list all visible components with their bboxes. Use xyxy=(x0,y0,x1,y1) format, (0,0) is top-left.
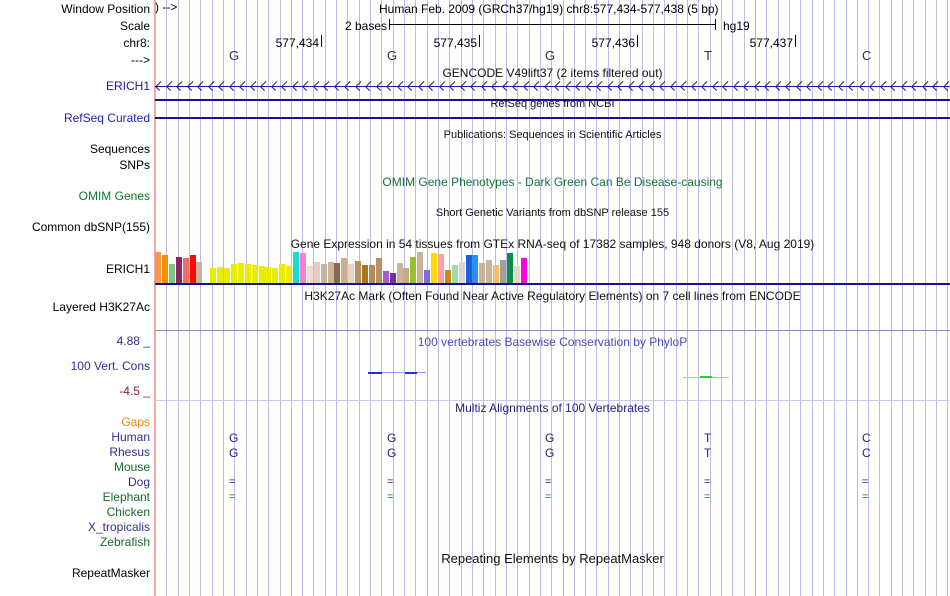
multiz-base-dog: = xyxy=(387,476,393,488)
strand-chevron-left-icon xyxy=(817,81,827,91)
cons-axis-min-tick: _ xyxy=(143,384,150,398)
strand-chevron-left-icon xyxy=(764,81,774,91)
gtex-bar[interactable] xyxy=(210,268,216,283)
gtex-bar[interactable] xyxy=(231,264,237,283)
coord-label-1: 577,435 xyxy=(369,36,477,50)
strand-chevron-left-icon xyxy=(428,81,438,91)
strand-chevron-left-icon xyxy=(292,81,302,91)
gtex-bar[interactable] xyxy=(252,265,258,283)
title-repeatmasker: Repeating Elements by RepeatMasker xyxy=(155,551,950,566)
refseq-gene-line xyxy=(155,117,950,119)
multiz-base-elephant: = xyxy=(704,491,710,503)
title-gtex: Gene Expression in 54 tissues from GTEx … xyxy=(155,237,950,251)
track-label-column: Window Position Scale chr8: ---> ERICH1 … xyxy=(0,0,153,596)
strand-chevron-left-icon xyxy=(218,81,228,91)
gtex-bar[interactable] xyxy=(369,265,375,283)
gtex-bar[interactable] xyxy=(314,262,320,283)
strand-chevron-left-icon xyxy=(533,81,543,91)
strand-chevron-left-icon xyxy=(229,81,239,91)
label-species-gaps[interactable]: Gaps xyxy=(121,416,150,428)
gtex-bar[interactable] xyxy=(328,262,334,283)
ruler-base-0: G xyxy=(229,48,239,63)
gtex-bar[interactable] xyxy=(169,264,175,283)
strand-chevron-left-icon xyxy=(701,81,711,91)
label-scale: Scale xyxy=(120,20,150,32)
strand-chevron-left-icon xyxy=(649,81,659,91)
label-species-human[interactable]: Human xyxy=(111,431,150,443)
gtex-bar[interactable] xyxy=(417,252,423,283)
strand-chevron-left-icon xyxy=(544,81,554,91)
label-species-chicken[interactable]: Chicken xyxy=(107,506,150,518)
gtex-bar[interactable] xyxy=(472,255,478,283)
gtex-bar[interactable] xyxy=(183,258,189,283)
gtex-bar[interactable] xyxy=(507,253,513,283)
cons-axis-max-value: 4.88 xyxy=(117,334,140,348)
coord-tick-3 xyxy=(795,35,796,47)
gtex-bar[interactable] xyxy=(259,266,265,283)
strand-chevron-left-icon xyxy=(502,81,512,91)
label-track-sequences[interactable]: Sequences xyxy=(90,143,150,155)
gtex-bar[interactable] xyxy=(431,253,437,283)
multiz-base-rhesus: G xyxy=(545,446,554,460)
gtex-bar[interactable] xyxy=(376,258,382,283)
gtex-bar[interactable] xyxy=(521,258,527,283)
label-track-100-vert-cons[interactable]: 100 Vert. Cons xyxy=(71,360,150,372)
gtex-bar[interactable] xyxy=(410,257,416,283)
multiz-base-elephant: = xyxy=(229,491,235,503)
strand-chevron-left-icon xyxy=(449,81,459,91)
strand-chevron-left-icon xyxy=(460,81,470,91)
gtex-bar[interactable] xyxy=(238,263,244,283)
strand-chevron-left-icon xyxy=(922,81,932,91)
title-refseq: RefSeq genes from NCBI xyxy=(155,98,950,110)
strand-chevron-left-icon xyxy=(355,81,365,91)
gtex-bar[interactable] xyxy=(293,252,299,283)
gtex-bar[interactable] xyxy=(397,263,403,283)
strand-chevron-left-icon xyxy=(722,81,732,91)
multiz-base-dog: = xyxy=(862,476,868,488)
cons-axis-min: -4.5 _ xyxy=(119,385,150,397)
strand-chevron-left-icon xyxy=(880,81,890,91)
title-multiz: Multiz Alignments of 100 Vertebrates xyxy=(155,401,950,415)
label-chrom: chr8: xyxy=(123,37,150,49)
multiz-base-dog: = xyxy=(229,476,235,488)
strand-chevron-left-icon xyxy=(512,81,522,91)
gtex-bar[interactable] xyxy=(348,264,354,283)
strand-chevron-left-icon xyxy=(554,81,564,91)
ruler-base-4: C xyxy=(862,48,871,63)
label-track-erich1-gtex[interactable]: ERICH1 xyxy=(106,263,150,275)
label-species-elephant[interactable]: Elephant xyxy=(103,491,150,503)
coord-tick-1 xyxy=(479,35,480,47)
gtex-bar[interactable] xyxy=(196,262,202,283)
label-window-position: Window Position xyxy=(61,3,150,15)
strand-chevron-left-icon xyxy=(596,81,606,91)
strand-chevron-left-icon xyxy=(712,81,722,91)
strand-chevron-left-icon xyxy=(176,81,186,91)
gtex-bar[interactable] xyxy=(279,264,285,283)
ruler-base-1: G xyxy=(387,48,397,63)
gtex-bar[interactable] xyxy=(265,267,271,283)
gtex-bar[interactable] xyxy=(341,258,347,283)
strand-chevron-left-icon xyxy=(659,81,669,91)
strand-chevron-left-icon xyxy=(187,81,197,91)
strand-chevron-left-icon xyxy=(523,81,533,91)
label-strand-arrow: ---> xyxy=(131,54,150,66)
multiz-base-rhesus: G xyxy=(387,446,396,460)
label-species-mouse[interactable]: Mouse xyxy=(114,461,150,473)
strand-chevron-left-icon xyxy=(607,81,617,91)
label-species-dog[interactable]: Dog xyxy=(128,476,150,488)
strand-chevron-left-icon xyxy=(890,81,900,91)
gtex-bar[interactable] xyxy=(300,253,306,283)
strand-chevron-left-icon xyxy=(302,81,312,91)
strand-chevron-left-icon xyxy=(344,81,354,91)
gtex-bar[interactable] xyxy=(479,263,485,283)
coord-tick-2 xyxy=(637,35,638,47)
label-track-layered-h3k27ac[interactable]: Layered H3K27Ac xyxy=(53,301,150,313)
multiz-base-rhesus: C xyxy=(862,446,871,460)
cons-axis-max-tick: _ xyxy=(143,334,150,348)
strand-chevron-left-icon xyxy=(418,81,428,91)
gtex-bar[interactable] xyxy=(403,268,409,283)
strand-chevron-left-icon xyxy=(155,81,165,91)
multiz-base-rhesus: G xyxy=(229,446,238,460)
strand-chevron-left-icon xyxy=(208,81,218,91)
label-track-common-dbsnp[interactable]: Common dbSNP(155) xyxy=(32,221,150,233)
strand-chevron-left-icon xyxy=(481,81,491,91)
strand-chevron-left-icon xyxy=(796,81,806,91)
gtex-bar[interactable] xyxy=(459,262,465,283)
multiz-base-elephant: = xyxy=(545,491,551,503)
multiz-base-elephant: = xyxy=(862,491,868,503)
strand-chevron-left-icon xyxy=(386,81,396,91)
strand-chevron-left-icon xyxy=(754,81,764,91)
strand-chevron-left-icon xyxy=(250,81,260,91)
strand-chevron-left-icon xyxy=(281,81,291,91)
label-track-erich1-gencode[interactable]: ERICH1 xyxy=(106,80,150,92)
gtex-bar[interactable] xyxy=(493,265,499,283)
gtex-bar[interactable] xyxy=(224,268,230,283)
strand-chevron-left-icon xyxy=(260,81,270,91)
coord-label-0: 577,434 xyxy=(211,36,319,50)
assembly-position-text: Human Feb. 2009 (GRCh37/hg19) chr8:577,4… xyxy=(379,2,719,16)
multiz-base-human: G xyxy=(545,431,554,445)
gtex-bar[interactable] xyxy=(466,255,472,283)
title-phylop: 100 vertebrates Basewise Conservation by… xyxy=(155,335,950,349)
multiz-base-human: G xyxy=(387,431,396,445)
gtex-bar[interactable] xyxy=(362,265,368,283)
cons-wiggle-blue-peak-left xyxy=(368,372,382,374)
multiz-base-human: C xyxy=(862,431,871,445)
strand-chevron-left-icon xyxy=(166,81,176,91)
strand-chevron-left-icon xyxy=(638,81,648,91)
strand-chevron-left-icon xyxy=(617,81,627,91)
strand-chevron-left-icon xyxy=(911,81,921,91)
gtex-bar[interactable] xyxy=(245,264,251,283)
h3k27ac-track-bottom-rule xyxy=(155,330,950,331)
strand-chevron-left-icon xyxy=(376,81,386,91)
gtex-baseline xyxy=(155,283,950,285)
coord-label-2: 577,436 xyxy=(527,36,635,50)
cons-wiggle-green-peak xyxy=(700,376,712,378)
ucsc-genome-browser: Window Position Scale chr8: ---> ERICH1 … xyxy=(0,0,950,596)
gtex-bar[interactable] xyxy=(424,270,430,283)
cons-axis-max: 4.88 _ xyxy=(117,335,150,347)
strand-chevron-left-icon xyxy=(901,81,911,91)
gtex-bar[interactable] xyxy=(307,266,313,283)
gtex-bar[interactable] xyxy=(486,260,492,283)
strand-chevron-left-icon xyxy=(785,81,795,91)
gtex-bar[interactable] xyxy=(190,255,196,283)
gtex-bar[interactable] xyxy=(390,273,396,283)
gtex-bar[interactable] xyxy=(514,266,520,283)
track-data-column: Human Feb. 2009 (GRCh37/hg19) chr8:577,4… xyxy=(155,0,950,596)
coord-label-3: 577,437 xyxy=(685,36,793,50)
strand-chevron-left-icon xyxy=(365,81,375,91)
title-gencode: GENCODE V49lift37 (2 items filtered out) xyxy=(155,66,950,80)
gencode-strand-chevrons xyxy=(155,81,950,92)
strand-chevron-left-icon xyxy=(407,81,417,91)
assembly-short-label: hg19 xyxy=(723,19,750,33)
strand-chevron-left-icon xyxy=(575,81,585,91)
strand-chevron-left-icon xyxy=(848,81,858,91)
strand-chevron-left-icon xyxy=(838,81,848,91)
strand-chevron-left-icon xyxy=(806,81,816,91)
label-track-repeatmasker[interactable]: RepeatMasker xyxy=(72,567,150,579)
strand-chevron-left-icon xyxy=(313,81,323,91)
strand-chevron-left-icon xyxy=(733,81,743,91)
gtex-bar[interactable] xyxy=(334,263,340,283)
ruler-base-2: G xyxy=(545,48,555,63)
gtex-bar[interactable] xyxy=(355,261,361,283)
label-track-snps[interactable]: SNPs xyxy=(119,159,150,171)
strand-chevron-left-icon xyxy=(691,81,701,91)
strand-chevron-left-icon xyxy=(397,81,407,91)
ruler-base-3: T xyxy=(704,48,712,63)
scale-tick-right xyxy=(715,19,716,30)
gtex-bar[interactable] xyxy=(500,260,506,283)
gtex-bar[interactable] xyxy=(176,257,182,283)
strand-chevron-left-icon xyxy=(470,81,480,91)
multiz-base-human: T xyxy=(704,431,711,445)
strand-chevron-left-icon xyxy=(827,81,837,91)
label-species-rhesus[interactable]: Rhesus xyxy=(109,446,150,458)
gtex-bar[interactable] xyxy=(438,254,444,283)
gtex-bar[interactable] xyxy=(321,264,327,283)
scale-bar xyxy=(389,24,716,25)
strand-chevron-left-icon xyxy=(869,81,879,91)
gtex-bar[interactable] xyxy=(217,267,223,283)
title-publications: Publications: Sequences in Scientific Ar… xyxy=(155,129,950,141)
strand-chevron-left-icon xyxy=(932,81,942,91)
gtex-bar[interactable] xyxy=(383,271,389,283)
label-species-zebrafish[interactable]: Zebrafish xyxy=(100,536,150,548)
strand-chevron-left-icon xyxy=(334,81,344,91)
strand-chevron-left-icon xyxy=(743,81,753,91)
strand-chevron-left-icon xyxy=(491,81,501,91)
label-track-refseq-curated[interactable]: RefSeq Curated xyxy=(64,112,150,124)
strand-chevron-left-icon xyxy=(775,81,785,91)
strand-chevron-left-icon xyxy=(565,81,575,91)
title-dbsnp: Short Genetic Variants from dbSNP releas… xyxy=(155,207,950,219)
strand-chevron-left-icon xyxy=(323,81,333,91)
strand-chevron-left-icon xyxy=(439,81,449,91)
coord-tick-0 xyxy=(321,35,322,47)
label-track-omim-genes[interactable]: OMIM Genes xyxy=(79,190,150,202)
cons-axis-min-value: -4.5 xyxy=(119,384,140,398)
title-h3k27ac: H3K27Ac Mark (Often Found Near Active Re… xyxy=(155,289,950,303)
gtex-bar[interactable] xyxy=(452,265,458,283)
multiz-base-human: G xyxy=(229,431,238,445)
gtex-bar[interactable] xyxy=(445,270,451,283)
multiz-base-elephant: = xyxy=(387,491,393,503)
strand-chevron-left-icon xyxy=(271,81,281,91)
title-omim: OMIM Gene Phenotypes - Dark Green Can Be… xyxy=(155,175,950,189)
strand-chevron-left-icon xyxy=(197,81,207,91)
strand-chevron-left-icon xyxy=(859,81,869,91)
strand-chevron-left-icon xyxy=(670,81,680,91)
gtex-bar[interactable] xyxy=(272,268,278,283)
label-species-xtropicalis[interactable]: X_tropicalis xyxy=(88,521,150,533)
strand-chevron-left-icon xyxy=(943,81,950,91)
multiz-base-rhesus: T xyxy=(704,446,711,460)
strand-chevron-left-icon xyxy=(680,81,690,91)
gtex-bar[interactable] xyxy=(286,266,292,283)
gtex-bar[interactable] xyxy=(155,252,161,283)
cons-wiggle-blue-peak-right xyxy=(405,372,417,374)
multiz-base-dog: = xyxy=(704,476,710,488)
multiz-base-dog: = xyxy=(545,476,551,488)
gtex-bar[interactable] xyxy=(162,255,168,283)
gtex-bar-chart[interactable] xyxy=(155,251,535,283)
strand-chevron-left-icon xyxy=(239,81,249,91)
scale-label: 2 bases xyxy=(345,19,387,33)
strand-chevron-left-icon xyxy=(586,81,596,91)
strand-chevron-left-icon xyxy=(628,81,638,91)
